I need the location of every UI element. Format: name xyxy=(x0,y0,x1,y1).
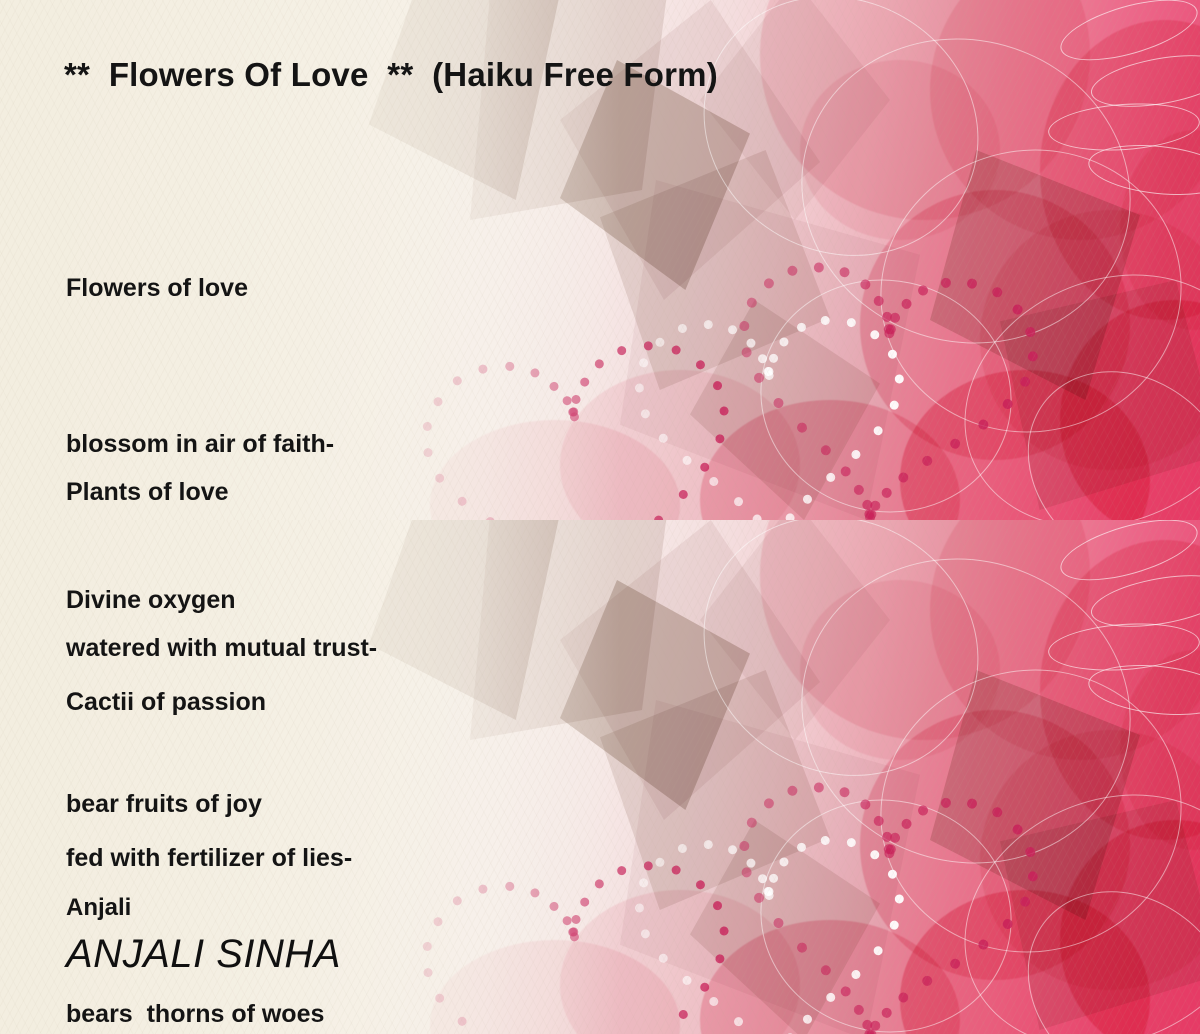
author-signature: ANJALI SINHA xyxy=(66,932,341,977)
poem-line: Plants of love xyxy=(66,466,377,518)
page-title: ** Flowers Of Love ** (Haiku Free Form) xyxy=(64,56,718,94)
author-short-name: Anjali xyxy=(66,882,189,934)
poem-line: Cactii of passion xyxy=(66,676,352,728)
poem-line: Flowers of love xyxy=(66,262,334,314)
author-block: Anjali 30-06-2009 xyxy=(66,778,189,1034)
poem-card: ** Flowers Of Love ** (Haiku Free Form) … xyxy=(0,0,1200,1034)
